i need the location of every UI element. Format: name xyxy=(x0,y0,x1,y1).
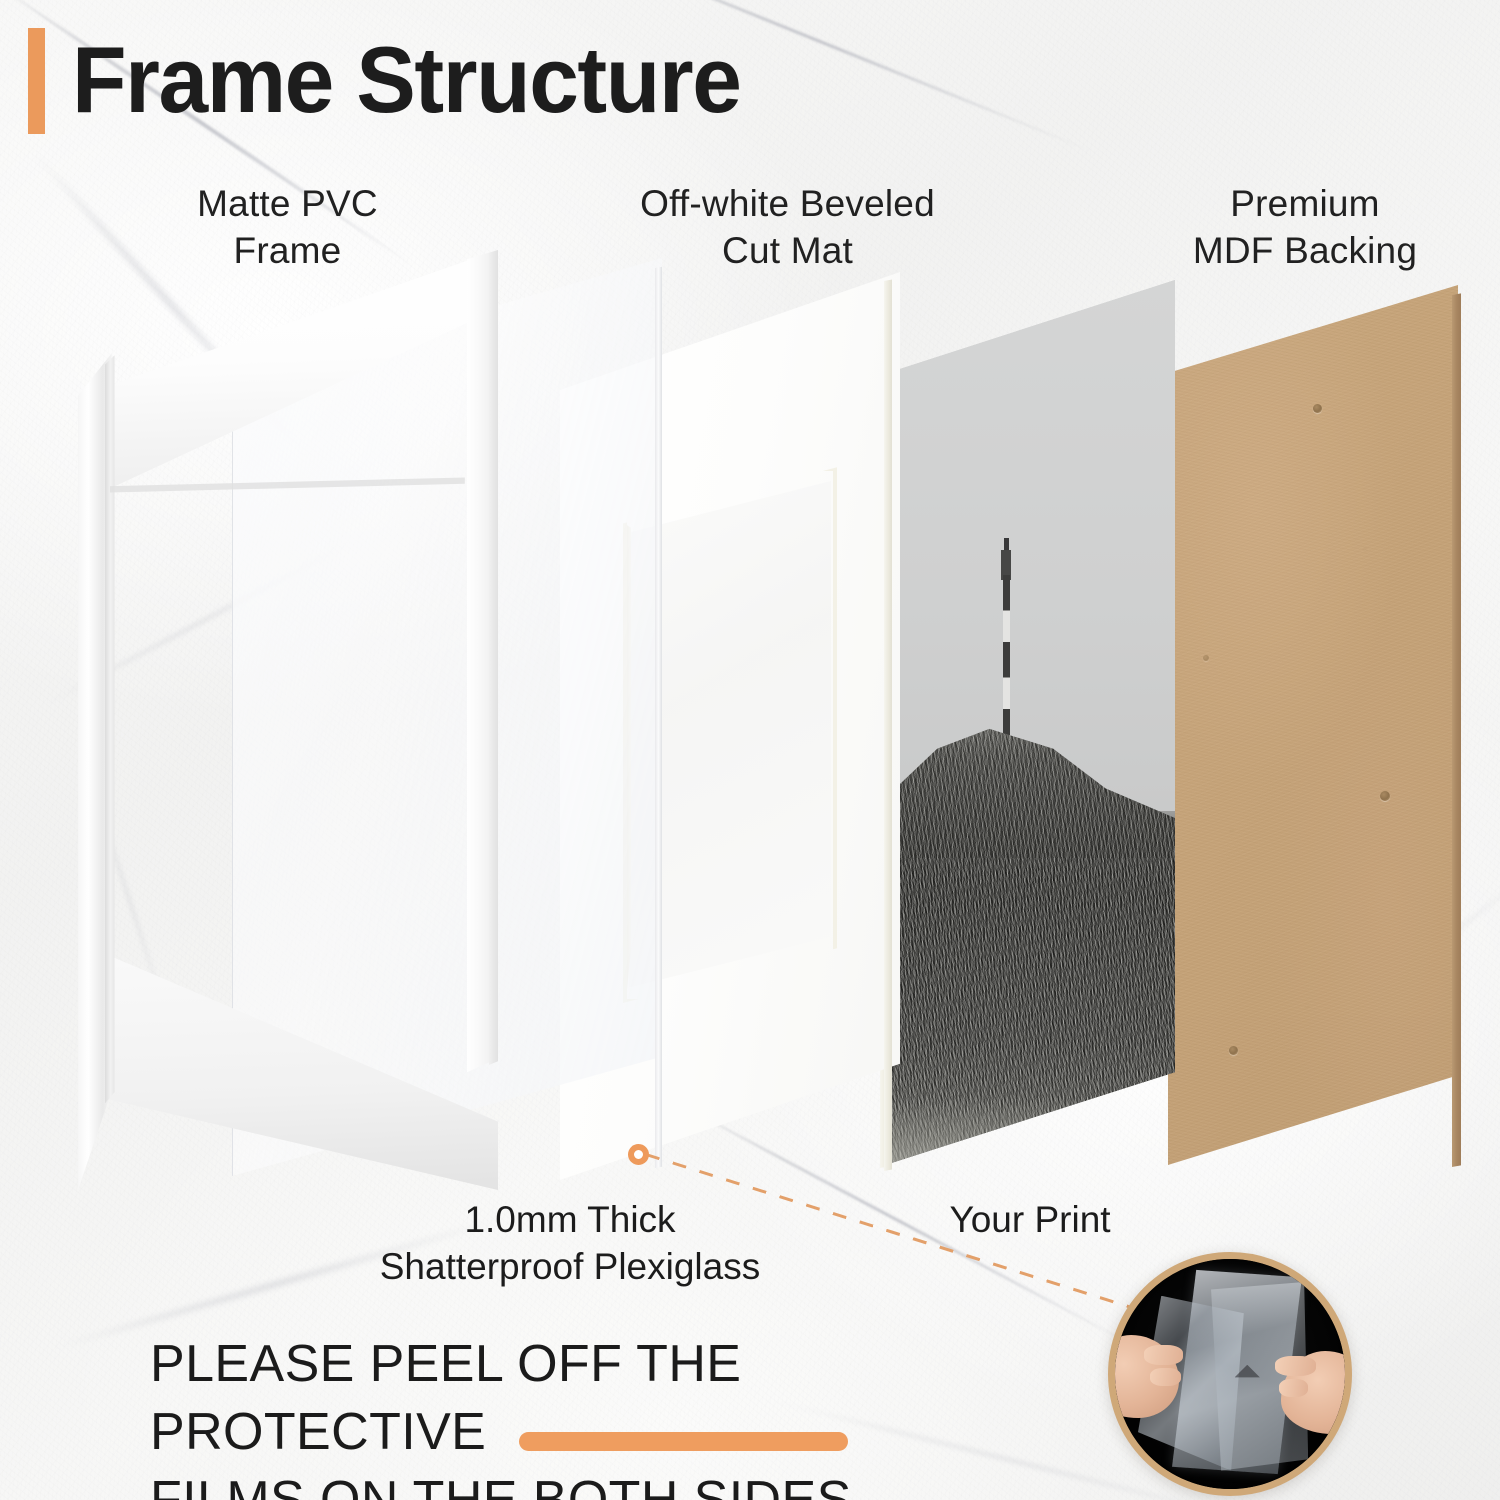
frame-bevel-top xyxy=(110,477,465,492)
label-your-print: Your Print xyxy=(880,1196,1180,1243)
frame-rail-top xyxy=(78,250,498,494)
mdf-backing-edge xyxy=(1452,293,1461,1167)
lighthouse-dune-photo xyxy=(885,280,1175,1165)
warning-line-1: PLEASE PEEL OFF THE PROTECTIVE xyxy=(150,1330,1070,1466)
layer-pvc-frame xyxy=(78,250,498,1190)
photo-sand xyxy=(885,1096,1175,1165)
mdf-nub xyxy=(1380,791,1390,801)
infographic-canvas: Frame Structure Matte PVC Frame Off-whit… xyxy=(0,0,1500,1500)
frame-rail-bottom xyxy=(78,946,498,1190)
frame-rail-right-edge xyxy=(489,250,498,1190)
warning-line-2: FILMS ON THE BOTH SIDES xyxy=(150,1466,1070,1500)
peel-film-photo xyxy=(1108,1252,1352,1496)
label-plexiglass: 1.0mm Thick Shatterproof Plexiglass xyxy=(260,1196,880,1290)
layer-mdf-backing xyxy=(1168,285,1458,1165)
mdf-nub xyxy=(1313,404,1322,413)
warning-text: PLEASE PEEL OFF THE PROTECTIVE FILMS ON … xyxy=(150,1330,1070,1500)
plexiglass-edge xyxy=(655,267,662,1168)
layer-your-print xyxy=(885,280,1175,1165)
mdf-nub xyxy=(1203,655,1209,661)
hand-left xyxy=(1108,1335,1179,1418)
mat-edge xyxy=(884,280,892,1171)
warning-line-2-prefix: FILMS ON THE xyxy=(150,1471,533,1500)
mdf-grain-texture xyxy=(1168,285,1458,1165)
hand-right xyxy=(1281,1351,1352,1434)
photo-sky xyxy=(885,280,1175,811)
frame-rail-left-inner xyxy=(105,250,115,1190)
warning-highlight-text: BOTH SIDES xyxy=(533,1471,852,1500)
connector-dot-marker xyxy=(628,1144,649,1165)
